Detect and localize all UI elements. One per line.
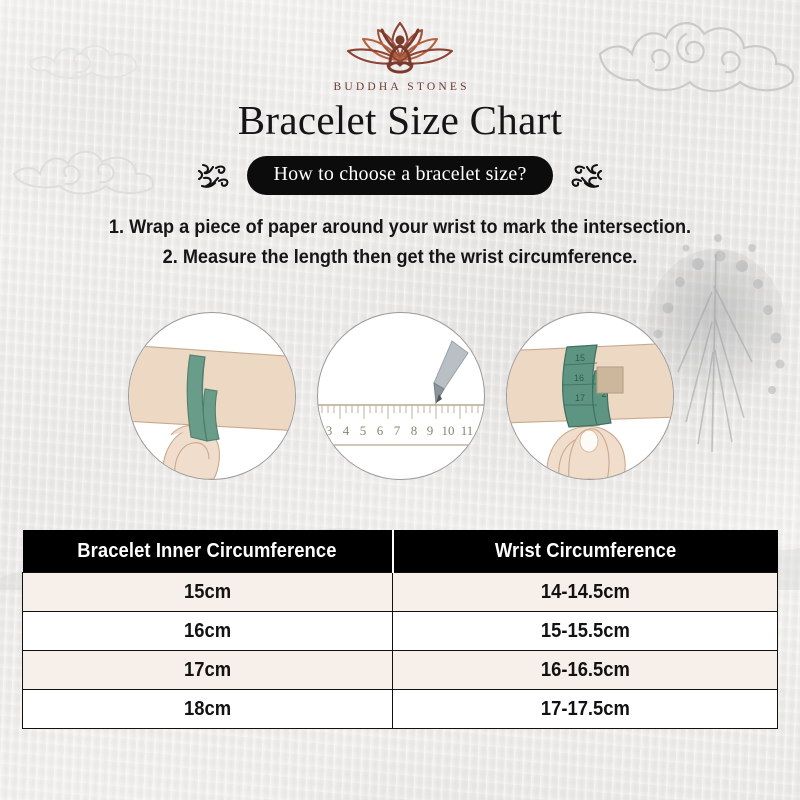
svg-text:4: 4	[343, 423, 350, 438]
svg-text:15: 15	[575, 353, 585, 363]
cell-wrist-size: 15-15.5cm	[393, 612, 778, 651]
cell-bracelet-size: 15cm	[23, 573, 393, 612]
svg-text:6: 6	[377, 423, 384, 438]
svg-text:8: 8	[411, 423, 418, 438]
instruction-step-2: 2. Measure the length then get the wrist…	[28, 242, 772, 272]
swirl-ornament-icon-left	[197, 159, 237, 193]
cell-wrist-size: 14-14.5cm	[393, 573, 778, 612]
cell-wrist-size: 16-16.5cm	[393, 651, 778, 690]
size-chart-page: BUDDHA STONES Bracelet Size Chart How to…	[0, 0, 800, 800]
svg-text:9: 9	[427, 423, 434, 438]
svg-text:16: 16	[574, 373, 584, 383]
brand-logo: BUDDHA STONES	[0, 18, 800, 93]
illustration-row: 345 678 91011 12	[0, 312, 800, 482]
subtitle-pill: How to choose a bracelet size?	[247, 156, 552, 195]
illustration-measuring-tape-on-wrist: 151617 2	[506, 312, 674, 480]
svg-text:17: 17	[575, 393, 585, 403]
instruction-step-1: 1. Wrap a piece of paper around your wri…	[28, 212, 772, 242]
table-row: 15cm 14-14.5cm	[23, 573, 778, 612]
cell-bracelet-size: 16cm	[23, 612, 393, 651]
svg-text:3: 3	[326, 423, 333, 438]
table-header-row: Bracelet Inner Circumference Wrist Circu…	[23, 530, 778, 573]
svg-text:7: 7	[394, 423, 401, 438]
lotus-meditation-logo-icon	[330, 18, 470, 80]
column-header-bracelet-inner-circumference: Bracelet Inner Circumference	[23, 530, 393, 573]
column-header-wrist-circumference: Wrist Circumference	[393, 530, 778, 573]
page-title: Bracelet Size Chart	[0, 96, 800, 144]
size-chart-table: Bracelet Inner Circumference Wrist Circu…	[22, 530, 778, 729]
cell-bracelet-size: 18cm	[23, 690, 393, 729]
brand-name: BUDDHA STONES	[0, 81, 800, 93]
svg-text:11: 11	[461, 423, 474, 438]
swirl-ornament-icon-right	[563, 159, 603, 193]
table-row: 18cm 17-17.5cm	[23, 690, 778, 729]
subtitle-row: How to choose a bracelet size?	[0, 156, 800, 195]
cell-bracelet-size: 17cm	[23, 651, 393, 690]
table-row: 16cm 15-15.5cm	[23, 612, 778, 651]
column-header-label: Bracelet Inner Circumference	[77, 540, 336, 563]
svg-text:12: 12	[479, 423, 485, 438]
instruction-list: 1. Wrap a piece of paper around your wri…	[0, 212, 800, 272]
illustration-measure-strip-with-ruler: 345 678 91011 12	[317, 312, 485, 480]
cell-wrist-size: 17-17.5cm	[393, 690, 778, 729]
illustration-wrap-paper-around-wrist	[128, 312, 296, 480]
column-header-label: Wrist Circumference	[495, 540, 676, 563]
svg-text:10: 10	[442, 423, 455, 438]
svg-text:5: 5	[360, 423, 367, 438]
table-row: 17cm 16-16.5cm	[23, 651, 778, 690]
